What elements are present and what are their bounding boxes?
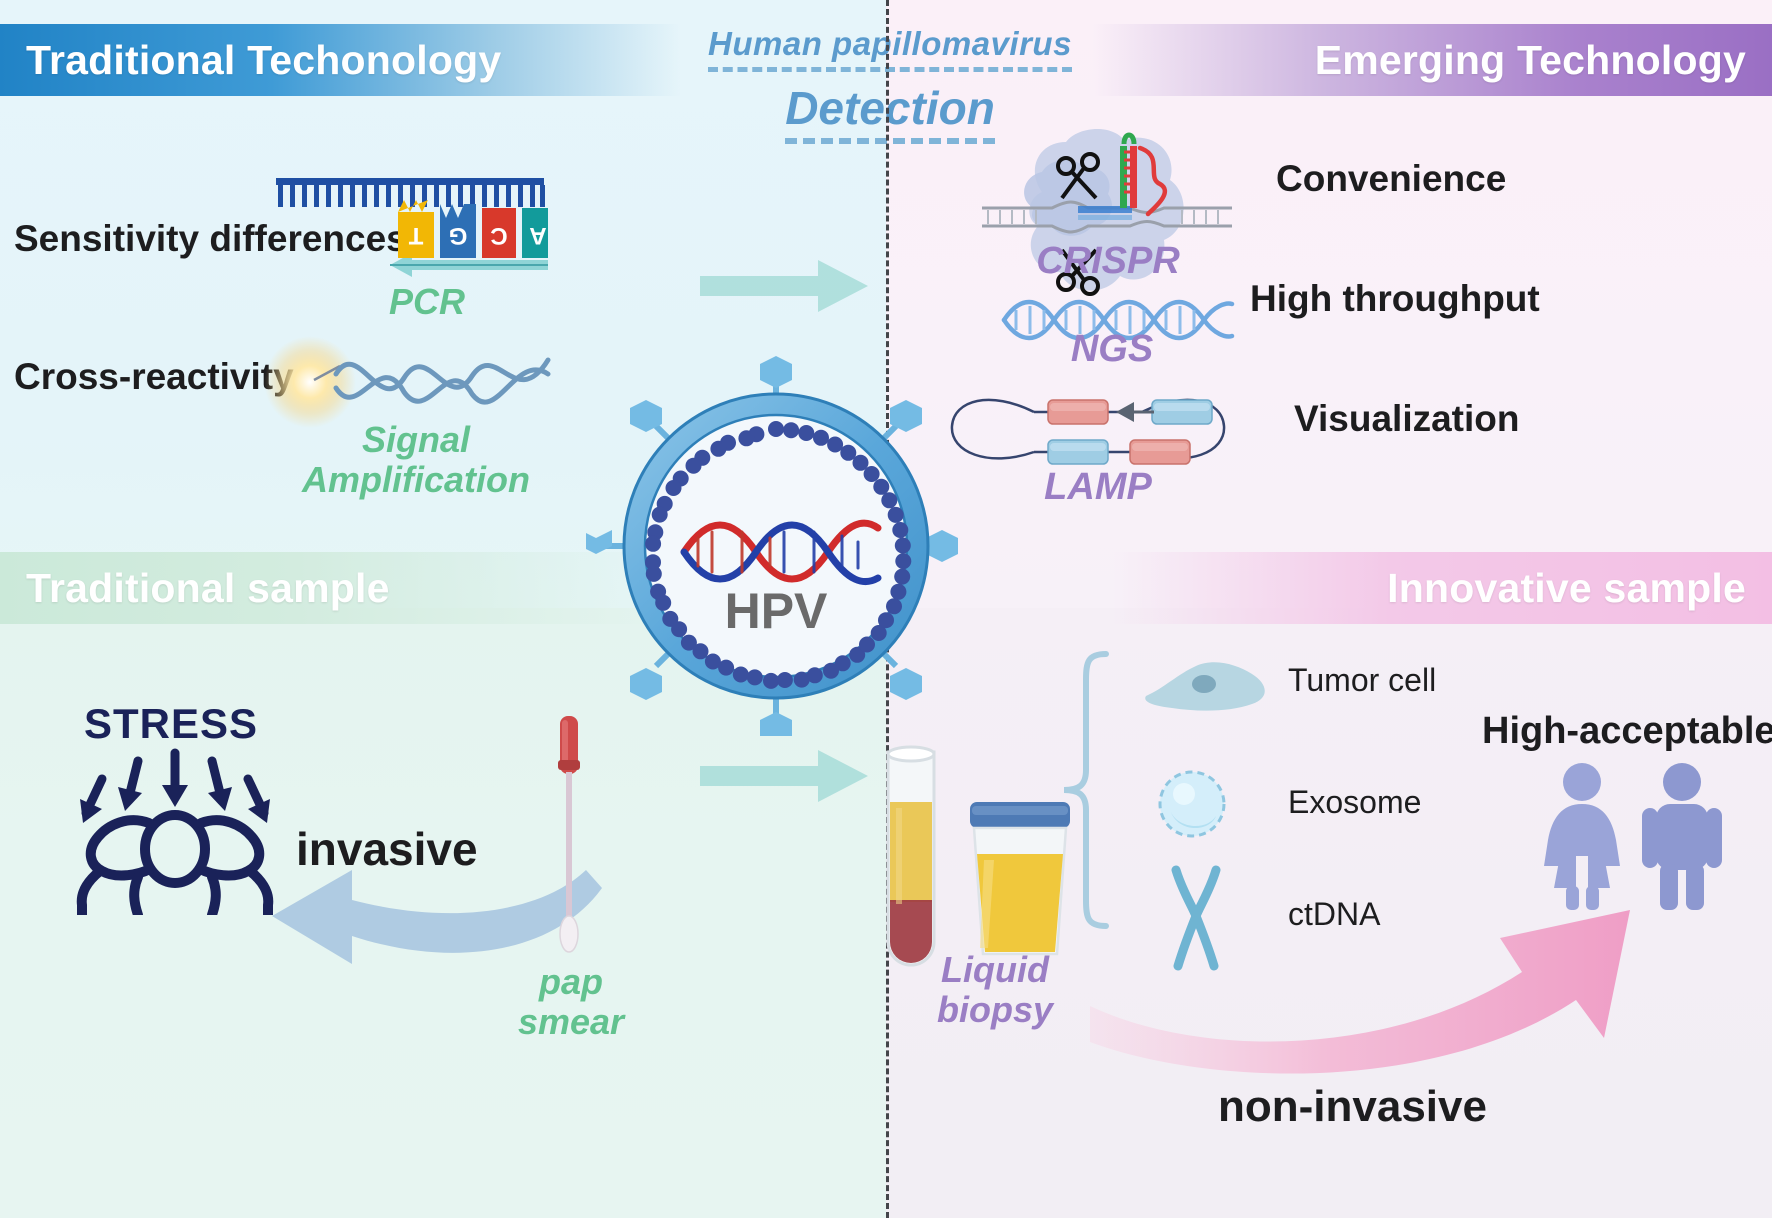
- blood-collection-tube-icon: [866, 742, 966, 982]
- method-label-lamp: LAMP: [990, 466, 1206, 509]
- pap-smear-swab-icon: [536, 712, 600, 962]
- banner-innovative-sample: Innovative sample: [1112, 552, 1772, 624]
- transition-arrow-top-icon: [700, 256, 870, 318]
- svg-text:C: C: [490, 222, 507, 249]
- analyte-label-tumor-cell: Tumor cell: [1288, 662, 1436, 699]
- hpv-virion-icon: HPV: [586, 356, 966, 736]
- limitation-cross-reactivity: Cross-reactivity: [14, 356, 294, 398]
- banner-traditional-sample-label: Traditional sample: [0, 565, 390, 612]
- svg-text:A: A: [529, 222, 546, 249]
- sample-label-pap-smear: pap smear: [476, 962, 666, 1043]
- crispr-cas-scissors-icon: [982, 122, 1232, 322]
- route-label-non-invasive: non-invasive: [1218, 1082, 1487, 1132]
- hpv-label: HPV: [725, 583, 828, 639]
- sample-label-liquid-biopsy: Liquid biopsy: [900, 950, 1090, 1031]
- figure-title-line2: Detection: [785, 84, 995, 145]
- acceptance-label: High-acceptable: [1482, 710, 1772, 753]
- banner-innovative-sample-label: Innovative sample: [1387, 565, 1772, 612]
- graphical-abstract: Traditional Techonology Emerging Technol…: [0, 0, 1772, 1218]
- exosome-icon: [1154, 766, 1230, 842]
- pcr-nucleotide-icon: T G C A: [272, 168, 548, 278]
- advantage-visualization: Visualization: [1294, 398, 1520, 440]
- stress-label: STRESS: [84, 700, 258, 748]
- method-label-crispr: CRISPR: [1000, 240, 1216, 283]
- advantage-high-throughput: High throughput: [1250, 278, 1540, 320]
- svg-text:T: T: [408, 222, 423, 249]
- figure-title-line1: Human papillomavirus: [708, 26, 1072, 72]
- method-label-ngs: NGS: [1004, 328, 1220, 371]
- analyte-label-exosome: Exosome: [1288, 784, 1421, 821]
- method-label-pcr: PCR: [322, 282, 532, 322]
- tumor-cell-icon: [1142, 654, 1272, 720]
- banner-traditional-sample: Traditional sample: [0, 552, 660, 624]
- banner-traditional-technology-label: Traditional Techonology: [0, 37, 501, 84]
- advantage-convenience: Convenience: [1276, 158, 1506, 200]
- banner-emerging-technology-label: Emerging Technology: [1315, 37, 1772, 84]
- method-label-signal-amplification: Signal Amplification: [286, 420, 546, 501]
- svg-text:G: G: [449, 222, 468, 249]
- curved-arrow-right-icon: [1090, 880, 1710, 1080]
- transition-arrow-bottom-icon: [700, 746, 870, 808]
